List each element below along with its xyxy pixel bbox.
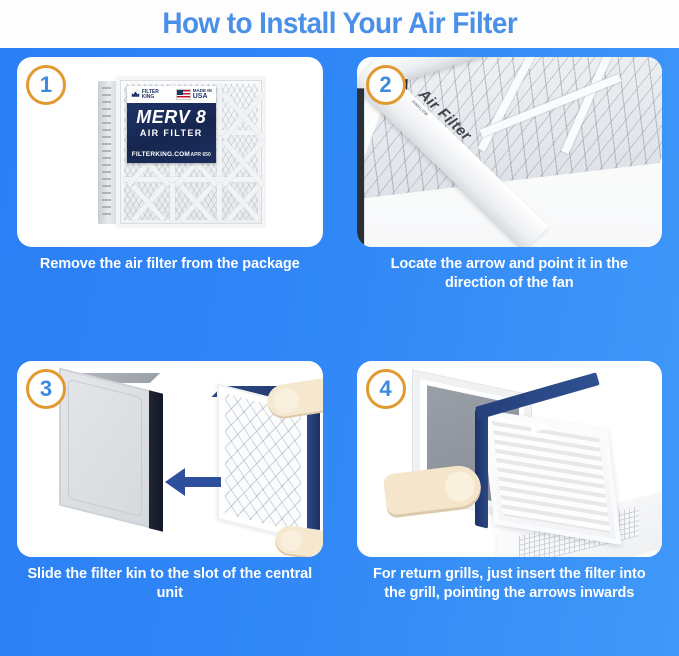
slide-direction-arrow-icon <box>165 465 221 504</box>
step-card-4[interactable]: 4 <box>357 361 663 557</box>
infographic-poster: How to Install Your Air Filter 1 <box>0 0 679 656</box>
page-title: How to Install Your Air Filter <box>162 7 517 41</box>
label-footer: FILTERKING.COM APR 650 <box>132 151 211 158</box>
step-card-1[interactable]: 1 <box>17 57 323 247</box>
step-caption-2: Locate the arrow and point it in the dir… <box>357 255 663 293</box>
filter-side-pleats <box>98 81 118 224</box>
step-badge-2: 2 <box>366 65 406 105</box>
country-label: USA <box>193 93 212 100</box>
product-label: FILTER KING MADE IN USA <box>127 86 216 163</box>
step-badge-1: 1 <box>26 65 66 105</box>
step-cell-2: 2 <box>340 48 679 352</box>
step-cell-3: 3 Slide the filter <box>0 352 340 656</box>
step-caption-3: Slide the filter kin to the slot of the … <box>17 565 323 603</box>
frame-shadow <box>357 88 364 247</box>
central-unit-body <box>59 368 151 529</box>
filter-blue-side-edge <box>307 405 320 545</box>
step-cell-1: 1 <box>0 48 340 352</box>
steps-grid: 1 <box>0 48 679 656</box>
brand-line-2: KING <box>142 95 159 100</box>
step-card-3[interactable]: 3 <box>17 361 323 557</box>
step-cell-4: 4 For return g <box>340 352 679 656</box>
made-in-usa-badge: MADE IN USA <box>176 89 212 101</box>
filter-blue-edge-side <box>475 409 488 528</box>
header-bar: How to Install Your Air Filter <box>0 0 679 48</box>
step-badge-4: 4 <box>366 369 406 409</box>
step-caption-4: For return grills, just insert the filte… <box>357 565 663 603</box>
hand-inserting-filter <box>382 463 483 518</box>
air-filter-product-photo: FILTER KING MADE IN USA <box>98 76 266 228</box>
website-url: FILTERKING.COM <box>132 151 190 158</box>
crown-icon <box>131 90 140 99</box>
made-in-label: MADE IN <box>193 88 212 93</box>
hand-lower <box>273 524 322 557</box>
central-unit-slot <box>149 390 163 531</box>
made-in-usa-text: MADE IN USA <box>193 89 212 101</box>
step-caption-1: Remove the air filter from the package <box>17 255 323 274</box>
brand-text: FILTER KING <box>142 90 159 100</box>
step-card-2[interactable]: 2 <box>357 57 663 247</box>
apr-rating: APR 650 <box>190 152 210 158</box>
filter-front-face: FILTER KING MADE IN USA <box>116 76 266 228</box>
label-subtitle: AIR FILTER <box>127 128 216 138</box>
filter-king-logo: FILTER KING <box>131 90 159 100</box>
step-badge-3: 3 <box>26 369 66 409</box>
merv-rating: MERV 8 <box>127 107 216 128</box>
usa-flag-icon <box>176 89 191 100</box>
label-top-strip: FILTER KING MADE IN USA <box>127 86 216 103</box>
